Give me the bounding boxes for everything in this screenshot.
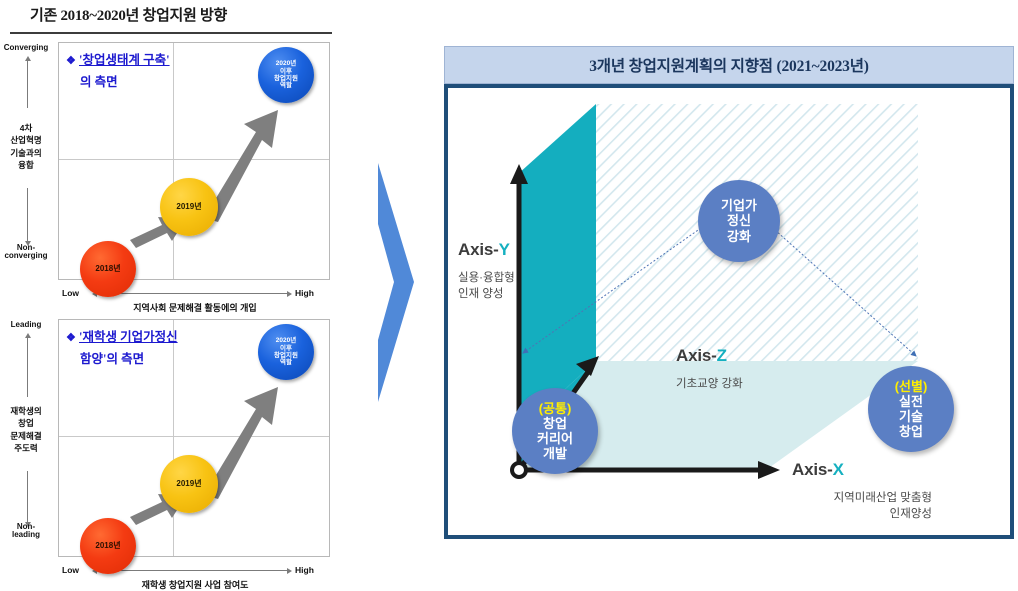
pill-line: 창업	[543, 416, 567, 431]
chart-startup-ecosystem: Converging 4차 산업혁명 기술과의 융합 Non- convergi…	[0, 38, 340, 308]
panel-header: 3개년 창업지원계획의 지향점 (2021~2023년)	[444, 46, 1014, 84]
axis-y-name: Axis-Y	[458, 240, 510, 260]
x-axis-arrow	[96, 570, 288, 571]
x-axis-high-label: High	[295, 288, 314, 298]
pill-common-career: (공통) 창업 커리어 개발	[512, 388, 598, 474]
bubble-2018: 2018년	[80, 518, 136, 574]
bubble-2019: 2019년	[160, 178, 218, 236]
y-axis-caption-line: 재학생의	[0, 405, 57, 417]
y-axis-bottom-label: Non- converging	[0, 244, 56, 261]
axis-x-sub: 지역미래산업 맞춤형 인재양성	[702, 490, 932, 523]
bubble-2020: 2020년 이후 창업지원 역할	[258, 47, 314, 103]
y-axis-top-label: Leading	[0, 321, 56, 329]
axis-x-sub-line: 지역미래산업 맞춤형	[702, 490, 932, 506]
bubble-2020-line: 이후	[280, 345, 292, 352]
origin-point	[512, 463, 526, 477]
pill-line: 개발	[543, 446, 567, 461]
axis-z-name: Axis-Z	[676, 346, 727, 366]
y-axis-top-label: Converging	[0, 44, 56, 52]
bubble-2018: 2018년	[80, 241, 136, 297]
y-axis-arrow-down	[27, 188, 28, 242]
y-axis-caption-line: 문제해결	[0, 430, 57, 442]
gridline-horizontal	[59, 159, 329, 160]
pill-line: 기업가	[721, 198, 757, 213]
x-axis-low-label: Low	[62, 565, 79, 575]
y-axis-caption-line: 융합	[0, 159, 57, 171]
panel-body: Axis-Y 실용·융합형 인재 양성 Axis-Z 기초교양 강화 Axis-…	[444, 84, 1014, 539]
pill-tag: (선별)	[895, 379, 928, 394]
callout-bullet-icon: ❖	[66, 55, 76, 67]
y-axis-arrow-down	[27, 471, 28, 523]
y-axis-caption-line: 산업혁명	[0, 134, 57, 146]
bubble-2020-line: 2020년	[276, 337, 296, 344]
panel-header-title: 3개년 창업지원계획의 지향점 (2021~2023년)	[589, 54, 869, 76]
bubble-2020-line: 2020년	[276, 60, 296, 67]
pill-tag: (공통)	[539, 401, 572, 416]
axis-y-prefix: Axis-	[458, 240, 499, 259]
pill-line: 정신	[727, 213, 751, 228]
axis-x-name: Axis-X	[792, 460, 844, 480]
y-axis-bottom-label: Non- leading	[0, 523, 56, 540]
callout-line2: 의 측면	[66, 72, 170, 94]
bubble-2020: 2020년 이후 창업지원 역할	[258, 324, 314, 380]
axis-y-sub-line: 인재 양성	[458, 286, 515, 302]
slide-title: 기존 2018~2020년 창업지원 방향	[30, 4, 350, 25]
y-axis-caption-line: 주도력	[0, 442, 57, 454]
y-axis-arrow-up	[27, 60, 28, 108]
axis-x-sub-line: 인재양성	[702, 506, 932, 522]
y-axis-caption-line: 기술과의	[0, 147, 57, 159]
y-axis-arrow-up	[27, 337, 28, 397]
axis-x-letter: X	[833, 460, 844, 479]
callout-text: ❖ '재학생 기업가정신 함양'의 측면	[66, 327, 178, 371]
pill-entrepreneurship: 기업가 정신 강화	[698, 180, 780, 262]
pill-line: 강화	[727, 229, 751, 244]
y-axis-caption: 4차 산업혁명 기술과의 융합	[0, 122, 57, 171]
x-axis-high-label: High	[295, 565, 314, 575]
callout-line1: '창업생태계 구축'	[79, 53, 170, 67]
gridline-horizontal	[59, 436, 329, 437]
callout-bullet-icon: ❖	[66, 332, 76, 344]
y-axis-bottom-line2: converging	[0, 252, 56, 260]
axis-z-sub: 기초교양 강화	[676, 376, 743, 392]
pill-line: 기술	[899, 409, 923, 424]
right-panel: 3개년 창업지원계획의 지향점 (2021~2023년)	[434, 46, 1014, 542]
bubble-2020-line: 이후	[280, 68, 292, 75]
y-axis-caption-line: 4차	[0, 122, 57, 134]
title-divider	[10, 32, 332, 34]
chart-student-entrepreneurship: Leading 재학생의 창업 문제해결 주도력 Non- leading Lo…	[0, 315, 340, 585]
y-axis-caption-line: 창업	[0, 417, 57, 429]
y-axis-caption: 재학생의 창업 문제해결 주도력	[0, 405, 57, 454]
axis-y-letter: Y	[499, 240, 510, 259]
callout-line2: 함양'의 측면	[66, 349, 178, 371]
callout-line1: '재학생 기업가정신	[79, 330, 178, 344]
pill-line: 창업	[899, 424, 923, 439]
pill-selective-tech-startup: (선별) 실전 기술 창업	[868, 366, 954, 452]
bubble-2020-line: 역할	[280, 359, 292, 366]
axis-z-letter: Z	[717, 346, 727, 365]
callout-text: ❖ '창업생태계 구축' 의 측면	[66, 50, 170, 94]
axis-x-prefix: Axis-	[792, 460, 833, 479]
bubble-2020-line: 역할	[280, 82, 292, 89]
axis-y-sub-line: 실용·융합형	[458, 270, 515, 286]
axis-z-sub-line: 기초교양 강화	[676, 376, 743, 392]
x-axis-caption: 지역사회 문제해결 활동에의 개입	[70, 301, 320, 314]
axis-z-prefix: Axis-	[676, 346, 717, 365]
x-axis-caption: 재학생 창업지원 사업 참여도	[70, 578, 320, 591]
pill-line: 커리어	[537, 431, 573, 446]
bubble-2019: 2019년	[160, 455, 218, 513]
x-axis-arrow	[96, 293, 288, 294]
pill-line: 실전	[899, 394, 923, 409]
transition-arrow-icon	[372, 160, 416, 405]
x-axis-low-label: Low	[62, 288, 79, 298]
y-axis-bottom-line2: leading	[0, 531, 56, 539]
axis-y-sub: 실용·융합형 인재 양성	[458, 270, 515, 303]
